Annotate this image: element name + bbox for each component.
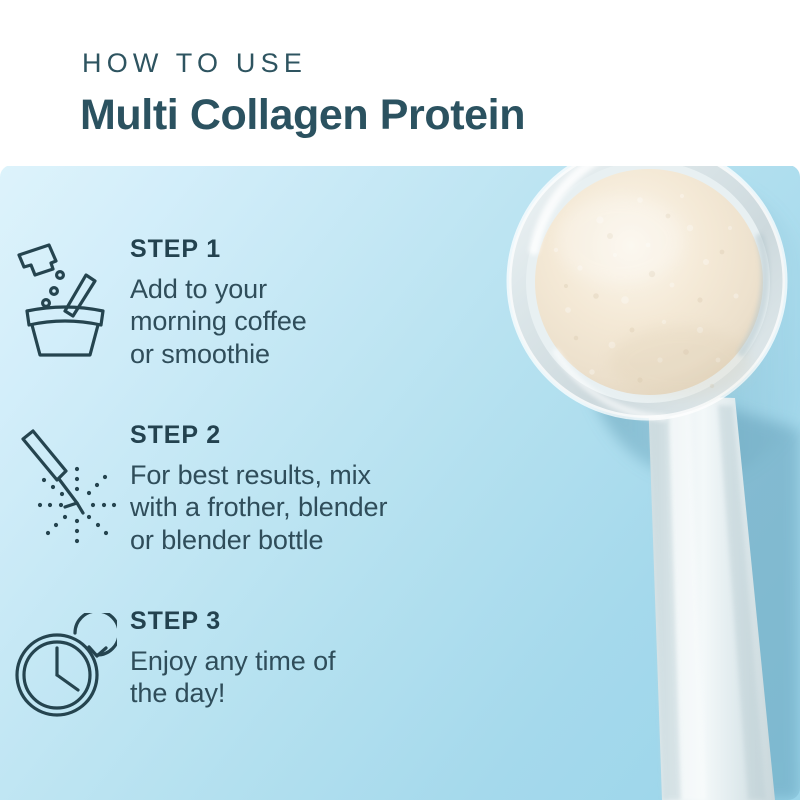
step-3-text-column: STEP 3 Enjoy any time of the day!: [130, 609, 335, 710]
step-2-description: For best results, mix with a frother, bl…: [130, 459, 387, 556]
step-item-3: STEP 3 Enjoy any time of the day!: [0, 609, 520, 725]
step-1-icon-column: [0, 237, 130, 359]
step-3-icon-column: [0, 609, 130, 725]
steps-list: STEP 1 Add to your morning coffee or smo…: [0, 165, 520, 800]
milk-frother-icon: [13, 427, 117, 545]
clock-with-refresh-arrow-icon: [13, 613, 117, 725]
step-2-text-column: STEP 2 For best results, mix with a frot…: [130, 423, 387, 556]
step-3-description: Enjoy any time of the day!: [130, 645, 335, 710]
step-2-icon-column: [0, 423, 130, 545]
eyebrow-text: HOW TO USE: [82, 50, 307, 77]
header-band: HOW TO USE Multi Collagen Protein: [0, 0, 800, 166]
step-item-2: STEP 2 For best results, mix with a frot…: [0, 423, 520, 556]
cup-with-straw-and-powder-packet-icon: [13, 241, 117, 359]
page-title: Multi Collagen Protein: [80, 93, 525, 138]
step-item-1: STEP 1 Add to your morning coffee or smo…: [0, 237, 520, 370]
step-1-text-column: STEP 1 Add to your morning coffee or smo…: [130, 237, 307, 370]
step-1-description: Add to your morning coffee or smoothie: [130, 273, 307, 370]
step-3-label: STEP 3: [130, 609, 335, 634]
step-1-label: STEP 1: [130, 237, 307, 262]
step-2-label: STEP 2: [130, 423, 387, 448]
